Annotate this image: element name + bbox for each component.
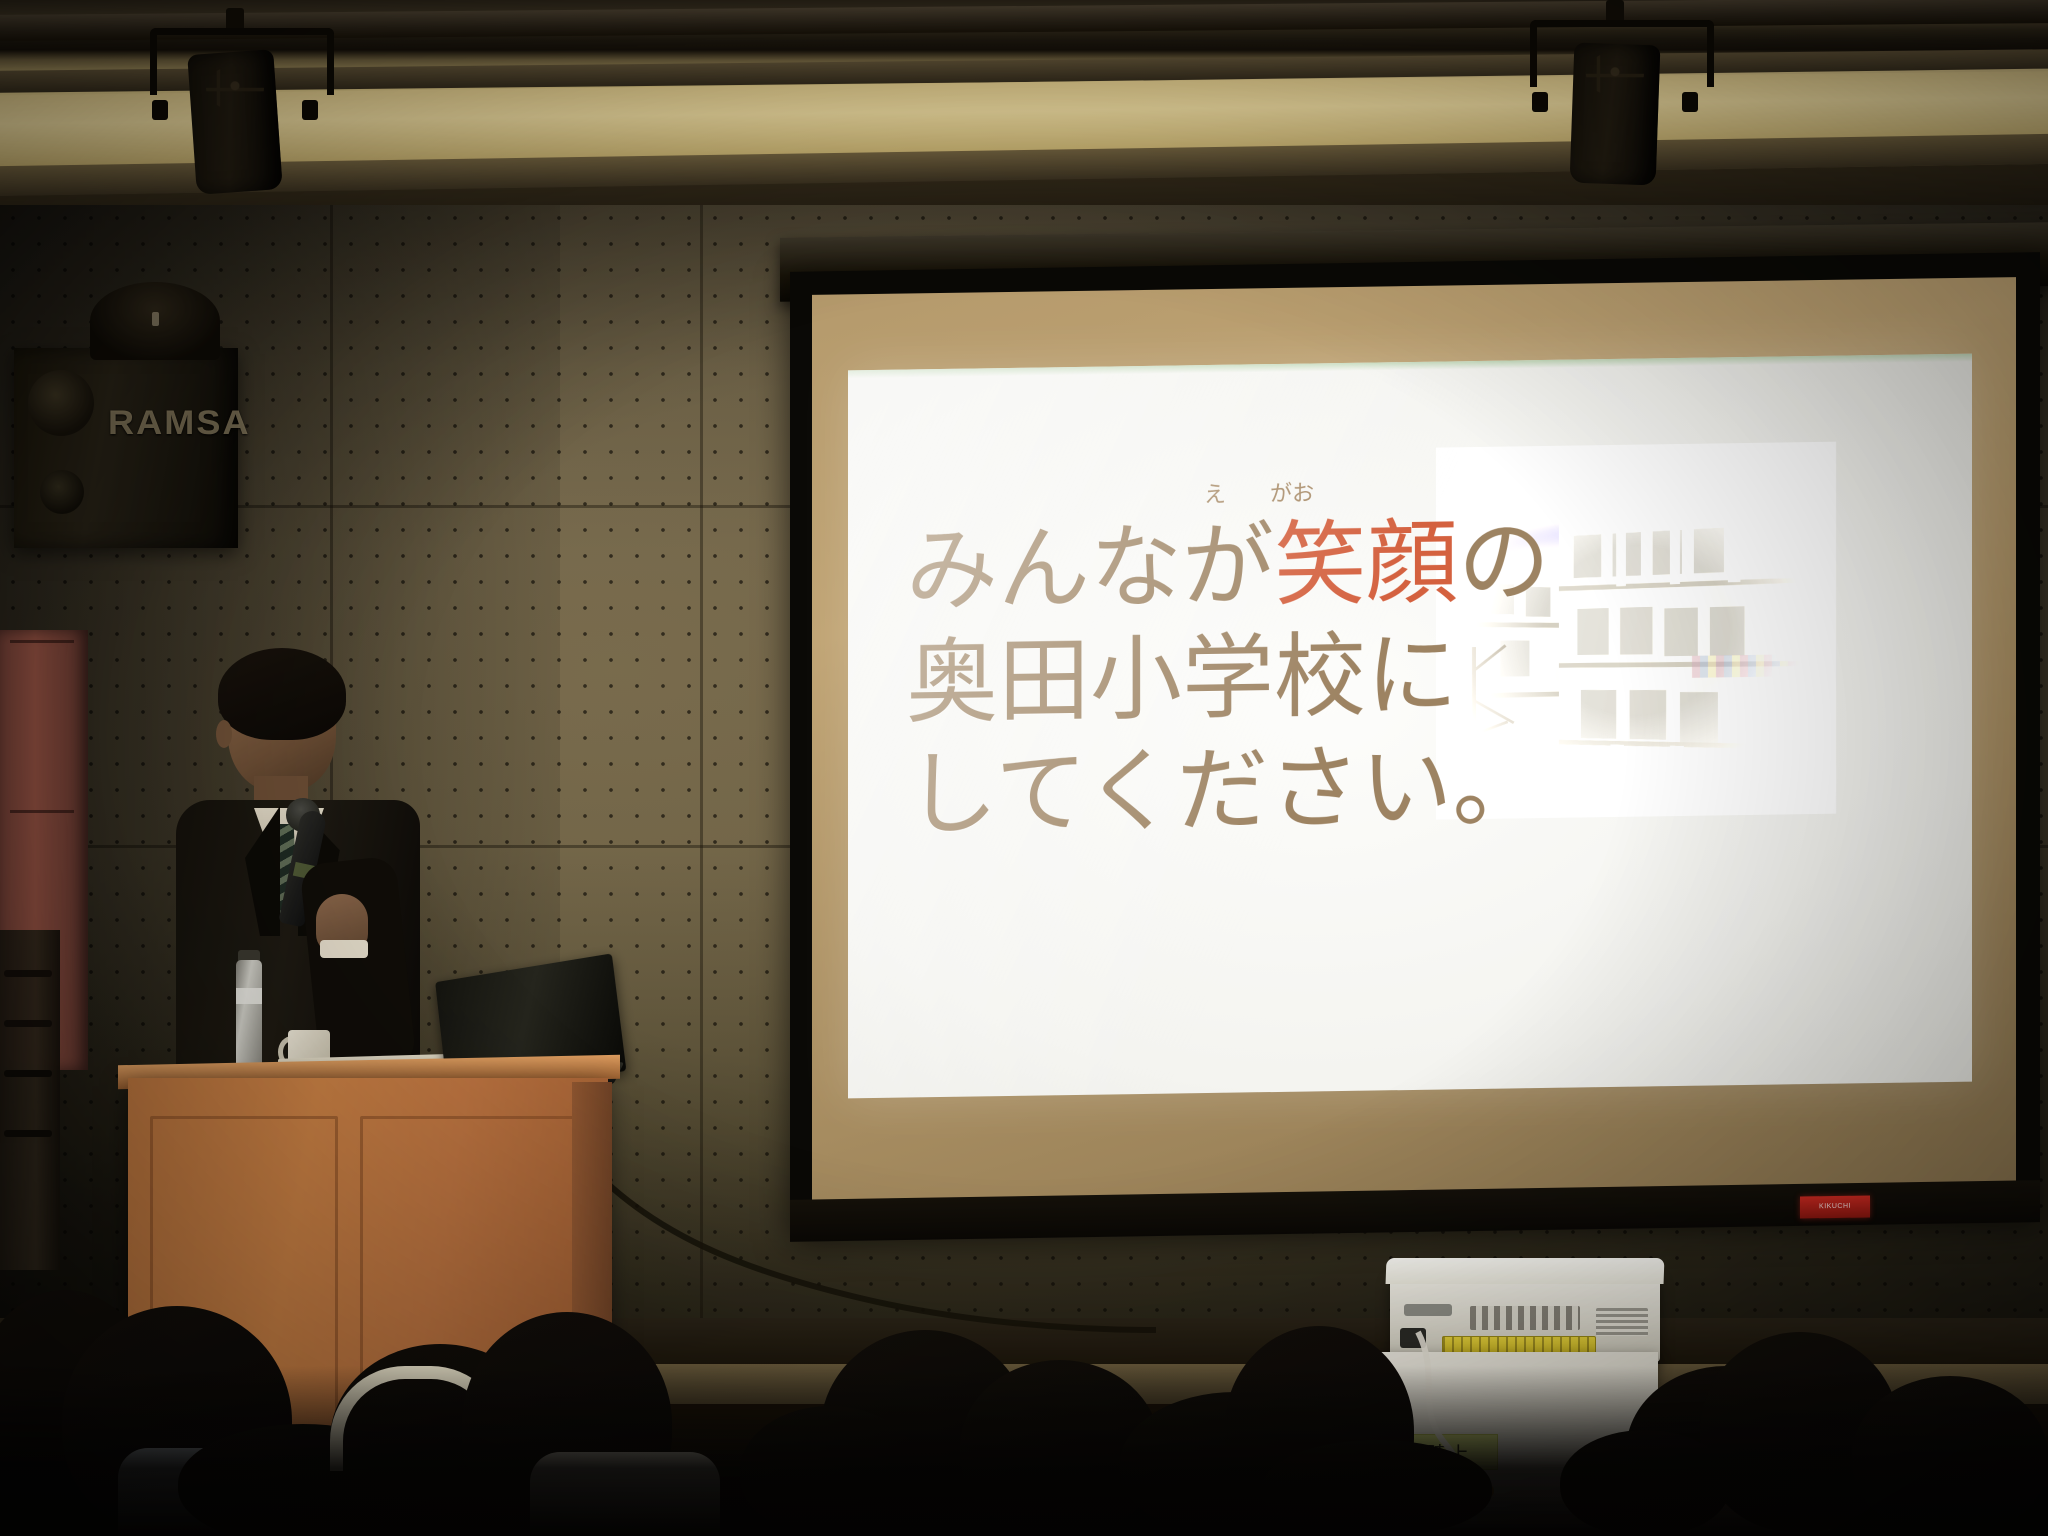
furigana-e: え [1204,477,1226,509]
pa-speaker: RAMSA [14,348,238,548]
screen-brand-logo: KIKUCHI [1800,1195,1870,1218]
track-spotlight-right [1530,0,1700,200]
presenter-hair [218,648,346,740]
projector-top-shell [1386,1258,1665,1284]
projector-lens [1404,1304,1452,1316]
slide-line-2: 奥田小学校に [906,619,1506,740]
furigana-group: え がお [1204,474,1434,509]
speaker-driver-top [28,370,94,436]
slide-line-3: してください。 [906,731,1506,852]
projected-slide: え がお みんなが笑顔の 奥田小学校に してください。 [848,354,1972,1099]
presenter-ear [216,720,232,748]
speaker-driver-bottom [40,470,84,514]
slide-line-1: みんなが笑顔の [906,507,1506,628]
furigana-gao: がお [1270,475,1314,508]
track-spotlight-left [150,8,320,208]
slide-line-1-pre: みんなが [906,515,1274,622]
projector-ports [1470,1306,1580,1330]
slide-line-1-highlight: 笑顔 [1274,512,1458,617]
stacked-chairs [0,930,60,1270]
screen-brand-logo-text: KIKUCHI [1800,1195,1870,1218]
presentation-scene-photo: RAMSA [0,0,2048,1536]
speaker-mount-bracket [90,282,220,360]
slide-line-1-post: の [1458,511,1550,614]
presenter-shirt-cuff [320,940,368,958]
water-bottle [236,960,262,1076]
water-bottle-label-ring [236,988,262,1004]
audience-foreground-shadow [0,1366,2048,1536]
speaker-brand-label: RAMSA [108,404,251,443]
projector-vent [1596,1308,1648,1336]
slide-text-block: え がお みんなが笑顔の 奥田小学校に してください。 [906,507,1506,853]
